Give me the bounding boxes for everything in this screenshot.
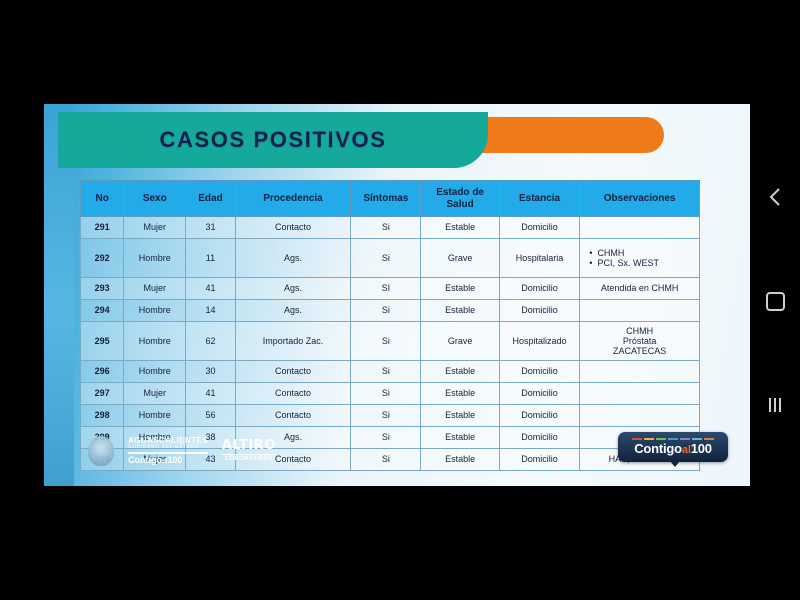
cell-no: 293 xyxy=(81,278,124,300)
table-body: 291Mujer31ContactoSiEstableDomicilio292H… xyxy=(81,217,700,471)
cell-estado-salud: Estable xyxy=(421,361,499,383)
gov-rule xyxy=(128,452,208,454)
cell-edad: 62 xyxy=(186,322,236,361)
cell-estancia: Domicilio xyxy=(499,405,579,427)
badge-tail xyxy=(670,461,680,467)
badge-stripe xyxy=(644,438,654,441)
back-chevron-icon[interactable] xyxy=(750,180,800,214)
cell-procedencia: Ags. xyxy=(235,300,351,322)
cell-no: 295 xyxy=(81,322,124,361)
cell-estado-salud: Estable xyxy=(421,449,499,471)
table-row: 297Mujer41ContactoSiEstableDomicilio xyxy=(81,383,700,405)
altiro-rule xyxy=(222,454,276,456)
cell-estancia: Domicilio xyxy=(499,300,579,322)
badge-text: Contigoal100 xyxy=(634,441,712,456)
bullet-icon: • xyxy=(589,258,592,268)
page-title: CASOS POSITIVOS xyxy=(160,127,387,153)
cell-observaciones: Atendida en CHMH xyxy=(580,278,700,300)
column-header-sexo: Sexo xyxy=(124,181,186,217)
table-row: 291Mujer31ContactoSiEstableDomicilio xyxy=(81,217,700,239)
cell-sintomas: Si xyxy=(351,361,421,383)
observation-line: CHMH xyxy=(581,326,698,336)
observation-bullet: •CHMH xyxy=(581,248,698,258)
altiro-line1: ALTIRO xyxy=(222,439,276,453)
presentation-slide: CASOS POSITIVOS No Sexo Edad Procedencia… xyxy=(44,104,750,486)
badge-stripe xyxy=(668,438,678,441)
cell-procedencia: Ags. xyxy=(235,278,351,300)
cell-estado-salud: Estable xyxy=(421,300,499,322)
state-crest-icon xyxy=(88,436,114,466)
cell-procedencia: Contacto xyxy=(235,405,351,427)
cell-edad: 41 xyxy=(186,383,236,405)
cell-sintomas: Si xyxy=(351,300,421,322)
cell-sintomas: Si xyxy=(351,383,421,405)
cell-estado-salud: Estable xyxy=(421,427,499,449)
cell-sexo: Mujer xyxy=(124,217,186,239)
government-logo: AGUASCALIENTES GOBIERNO DEL ESTADO Conti… xyxy=(128,437,208,465)
cell-procedencia: Contacto xyxy=(235,383,351,405)
cell-sexo: Hombre xyxy=(124,361,186,383)
cell-estancia: Domicilio xyxy=(499,427,579,449)
cell-estado-salud: Estable xyxy=(421,383,499,405)
altiro-line2: CORONAVIRUS xyxy=(222,456,276,462)
cell-estado-salud: Grave xyxy=(421,239,499,278)
column-header-no: No xyxy=(81,181,124,217)
cell-edad: 30 xyxy=(186,361,236,383)
cell-sintomas: Si xyxy=(351,427,421,449)
table-row: 294Hombre14Ags.SiEstableDomicilio xyxy=(81,300,700,322)
observation-line: ZACATECAS xyxy=(581,346,698,356)
cell-estancia: Hospitalaria xyxy=(499,239,579,278)
badge-stripe xyxy=(704,438,714,441)
cell-estado-salud: Estable xyxy=(421,217,499,239)
cell-estado-salud: Estable xyxy=(421,278,499,300)
gov-slogan: Contigoal100 xyxy=(128,456,208,465)
cell-no: 297 xyxy=(81,383,124,405)
column-header-estancia: Estancia xyxy=(499,181,579,217)
column-header-sintomas: Síntomas xyxy=(351,181,421,217)
cell-sexo: Hombre xyxy=(124,239,186,278)
table-row: 298Hombre56ContactoSiEstableDomicilio xyxy=(81,405,700,427)
cell-observaciones xyxy=(580,361,700,383)
bullet-icon: • xyxy=(589,248,592,258)
positive-cases-table: No Sexo Edad Procedencia Síntomas Estado… xyxy=(80,180,700,471)
recents-icon xyxy=(766,396,784,414)
cell-sintomas: SI xyxy=(351,278,421,300)
gov-subtitle: GOBIERNO DEL ESTADO xyxy=(128,445,208,450)
cell-sexo: Mujer xyxy=(124,278,186,300)
cell-estado-salud: Grave xyxy=(421,322,499,361)
cell-no: 294 xyxy=(81,300,124,322)
cell-edad: 11 xyxy=(186,239,236,278)
cell-procedencia: Ags. xyxy=(235,239,351,278)
column-header-estado-line1: Estado de xyxy=(436,187,484,198)
cell-observaciones xyxy=(580,300,700,322)
cell-procedencia: Contacto xyxy=(235,361,351,383)
contigo-al-100-badge: Contigoal100 xyxy=(618,432,728,462)
cell-observaciones: •CHMH•PCI, Sx. WEST xyxy=(580,239,700,278)
observation-bullet: •PCI, Sx. WEST xyxy=(581,258,698,268)
cell-observaciones xyxy=(580,217,700,239)
table-header-row: No Sexo Edad Procedencia Síntomas Estado… xyxy=(81,181,700,217)
cell-estancia: Domicilio xyxy=(499,217,579,239)
cell-estancia: Domicilio xyxy=(499,361,579,383)
cell-observaciones xyxy=(580,383,700,405)
column-header-procedencia: Procedencia xyxy=(235,181,351,217)
phone-screen: CASOS POSITIVOS No Sexo Edad Procedencia… xyxy=(0,0,800,600)
cell-no: 298 xyxy=(81,405,124,427)
footer-logos: AGUASCALIENTES GOBIERNO DEL ESTADO Conti… xyxy=(88,436,276,466)
cell-sintomas: Si xyxy=(351,405,421,427)
cell-sintomas: Si xyxy=(351,239,421,278)
table-row: 293Mujer41Ags.SIEstableDomicilioAtendida… xyxy=(81,278,700,300)
cell-estado-salud: Estable xyxy=(421,405,499,427)
column-header-observaciones: Observaciones xyxy=(580,181,700,217)
cell-no: 296 xyxy=(81,361,124,383)
altiro-logo: ALTIRO CORONAVIRUS xyxy=(222,439,276,462)
cell-procedencia: Contacto xyxy=(235,217,351,239)
home-square-icon[interactable] xyxy=(750,284,800,318)
badge-stripe xyxy=(632,438,642,441)
home-icon xyxy=(766,292,785,311)
cell-sexo: Hombre xyxy=(124,300,186,322)
cell-edad: 56 xyxy=(186,405,236,427)
cell-observaciones xyxy=(580,405,700,427)
cell-sexo: Hombre xyxy=(124,322,186,361)
cell-no: 292 xyxy=(81,239,124,278)
cell-sexo: Hombre xyxy=(124,405,186,427)
cell-sintomas: Si xyxy=(351,322,421,361)
cell-edad: 41 xyxy=(186,278,236,300)
chevron-left-icon xyxy=(768,186,782,208)
cell-edad: 14 xyxy=(186,300,236,322)
cell-procedencia: Importado Zac. xyxy=(235,322,351,361)
cell-estancia: Domicilio xyxy=(499,383,579,405)
column-header-estado-line2: Salud xyxy=(446,199,473,210)
column-header-edad: Edad xyxy=(186,181,236,217)
android-navigation-bar xyxy=(750,0,800,600)
badge-stripe xyxy=(692,438,702,441)
header-teal-banner: CASOS POSITIVOS xyxy=(58,112,488,168)
cell-estancia: Hospitalizado xyxy=(499,322,579,361)
cell-sintomas: Si xyxy=(351,217,421,239)
cell-no: 291 xyxy=(81,217,124,239)
cell-edad: 31 xyxy=(186,217,236,239)
recents-bars-icon[interactable] xyxy=(750,388,800,422)
badge-stripe xyxy=(656,438,666,441)
badge-main: Contigo xyxy=(634,441,682,456)
badge-num: 100 xyxy=(691,441,712,456)
cell-observaciones: CHMHPróstataZACATECAS xyxy=(580,322,700,361)
cell-estancia: Domicilio xyxy=(499,278,579,300)
table-row: 296Hombre30ContactoSiEstableDomicilio xyxy=(81,361,700,383)
badge-stripe xyxy=(680,438,690,441)
cell-estancia: Domicilio xyxy=(499,449,579,471)
cell-sintomas: Si xyxy=(351,449,421,471)
badge-stripes xyxy=(632,438,714,441)
table-row: 295Hombre62Importado Zac.SiGraveHospital… xyxy=(81,322,700,361)
column-header-estado-salud: Estado de Salud xyxy=(421,181,499,217)
observation-line: Próstata xyxy=(581,336,698,346)
table-row: 292Hombre11Ags.SiGraveHospitalaria•CHMH•… xyxy=(81,239,700,278)
gov-slogan-main: Contigo xyxy=(128,455,162,465)
cell-sexo: Mujer xyxy=(124,383,186,405)
gov-slogan-num: 100 xyxy=(167,455,182,465)
badge-mid: al xyxy=(682,444,691,456)
